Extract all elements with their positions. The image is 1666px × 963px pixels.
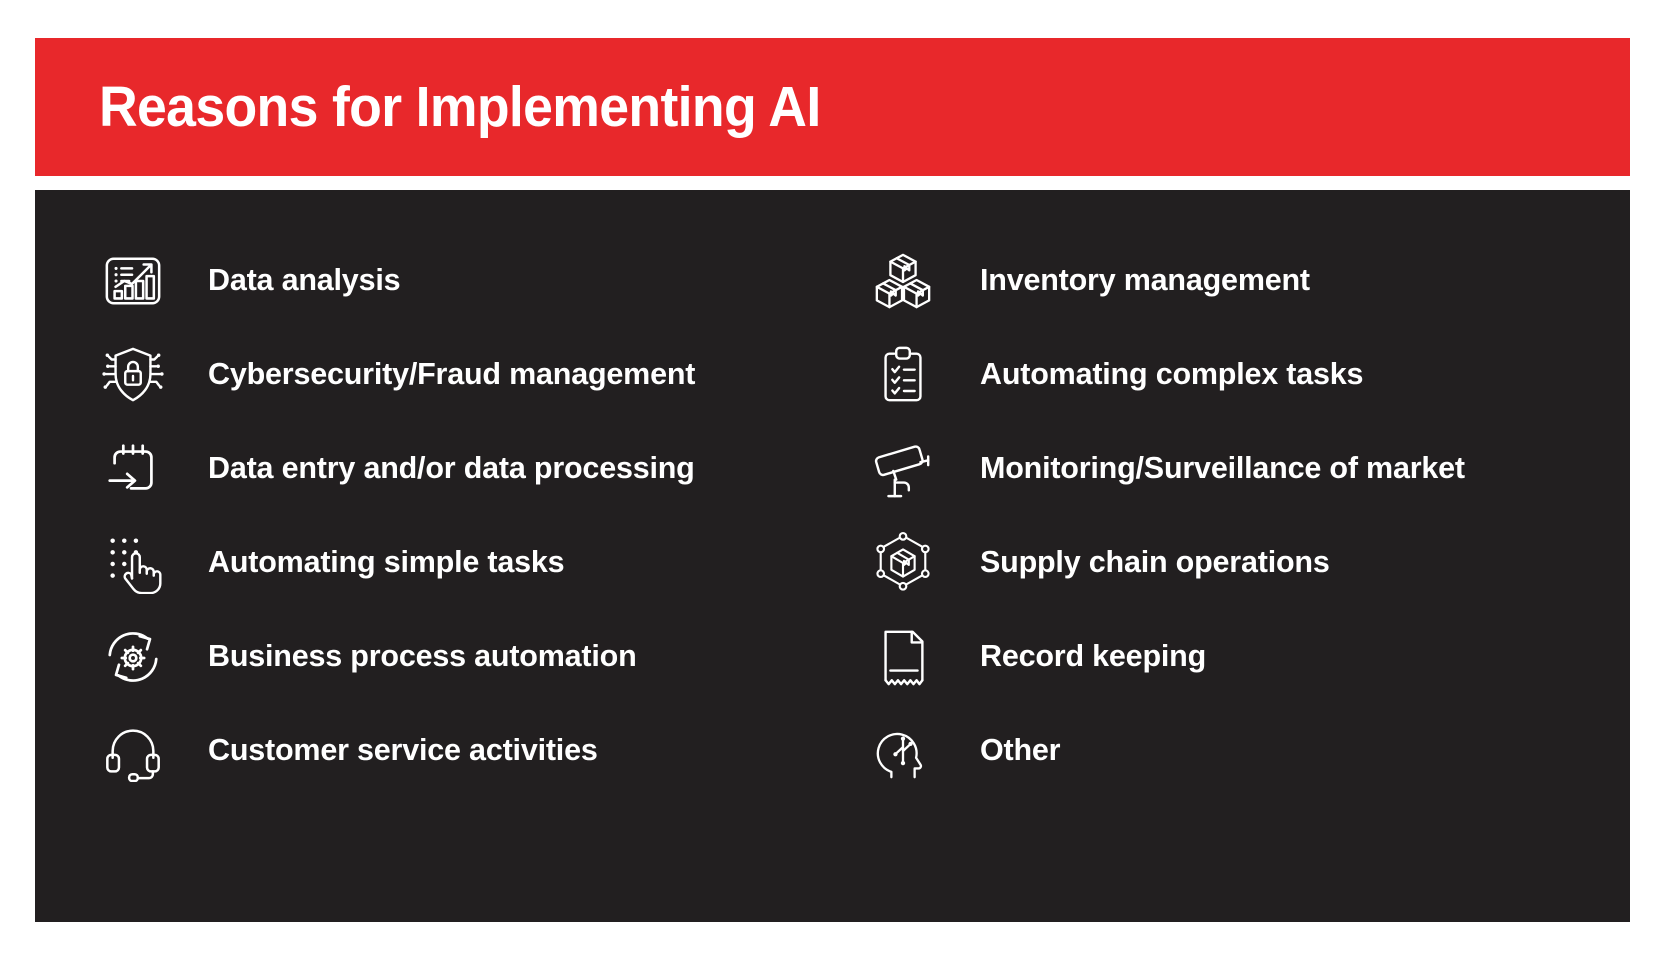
list-item-label: Other xyxy=(980,734,1060,768)
reasons-grid: Data analysis xyxy=(35,190,1630,922)
gear-refresh-arrows-icon xyxy=(90,620,176,694)
list-item: Automating complex tasks xyxy=(860,328,1630,422)
slide-root: Reasons for Implementing AI xyxy=(0,0,1666,963)
list-item-label: Customer service activities xyxy=(208,734,598,768)
page-title: Reasons for Implementing AI xyxy=(99,79,821,136)
list-item: Business process automation xyxy=(35,610,860,704)
list-item-label: Data analysis xyxy=(208,264,400,298)
list-item: Monitoring/Surveillance of market xyxy=(860,422,1630,516)
stacked-boxes-icon xyxy=(860,244,946,318)
list-item-label: Cybersecurity/Fraud management xyxy=(208,358,695,392)
list-item-label: Data entry and/or data processing xyxy=(208,452,695,486)
list-item: Data analysis xyxy=(35,234,860,328)
receipt-document-icon xyxy=(860,620,946,694)
data-analysis-icon xyxy=(90,244,176,318)
list-item: Other xyxy=(860,704,1630,798)
list-item: Data entry and/or data processing xyxy=(35,422,860,516)
list-item: Cybersecurity/Fraud management xyxy=(35,328,860,422)
list-item-label: Monitoring/Surveillance of market xyxy=(980,452,1465,486)
list-item: Supply chain operations xyxy=(860,516,1630,610)
list-item: Inventory management xyxy=(860,234,1630,328)
data-entry-form-arrow-icon xyxy=(90,432,176,506)
list-item: Record keeping xyxy=(860,610,1630,704)
list-item-label: Business process automation xyxy=(208,640,637,674)
list-item-label: Automating complex tasks xyxy=(980,358,1363,392)
shield-lock-circuit-icon xyxy=(90,338,176,412)
list-item-label: Inventory management xyxy=(980,264,1310,298)
head-circuit-brain-icon xyxy=(860,714,946,788)
hand-tap-keypad-icon xyxy=(90,526,176,600)
list-item-label: Automating simple tasks xyxy=(208,546,564,580)
headset-icon xyxy=(90,714,176,788)
list-item: Automating simple tasks xyxy=(35,516,860,610)
header-band: Reasons for Implementing AI xyxy=(35,38,1630,176)
content-panel: Data analysis xyxy=(35,190,1630,922)
hexagon-network-box-icon xyxy=(860,526,946,600)
cctv-camera-icon xyxy=(860,432,946,506)
list-item-label: Supply chain operations xyxy=(980,546,1330,580)
list-item-label: Record keeping xyxy=(980,640,1206,674)
clipboard-checklist-icon xyxy=(860,338,946,412)
list-item: Customer service activities xyxy=(35,704,860,798)
